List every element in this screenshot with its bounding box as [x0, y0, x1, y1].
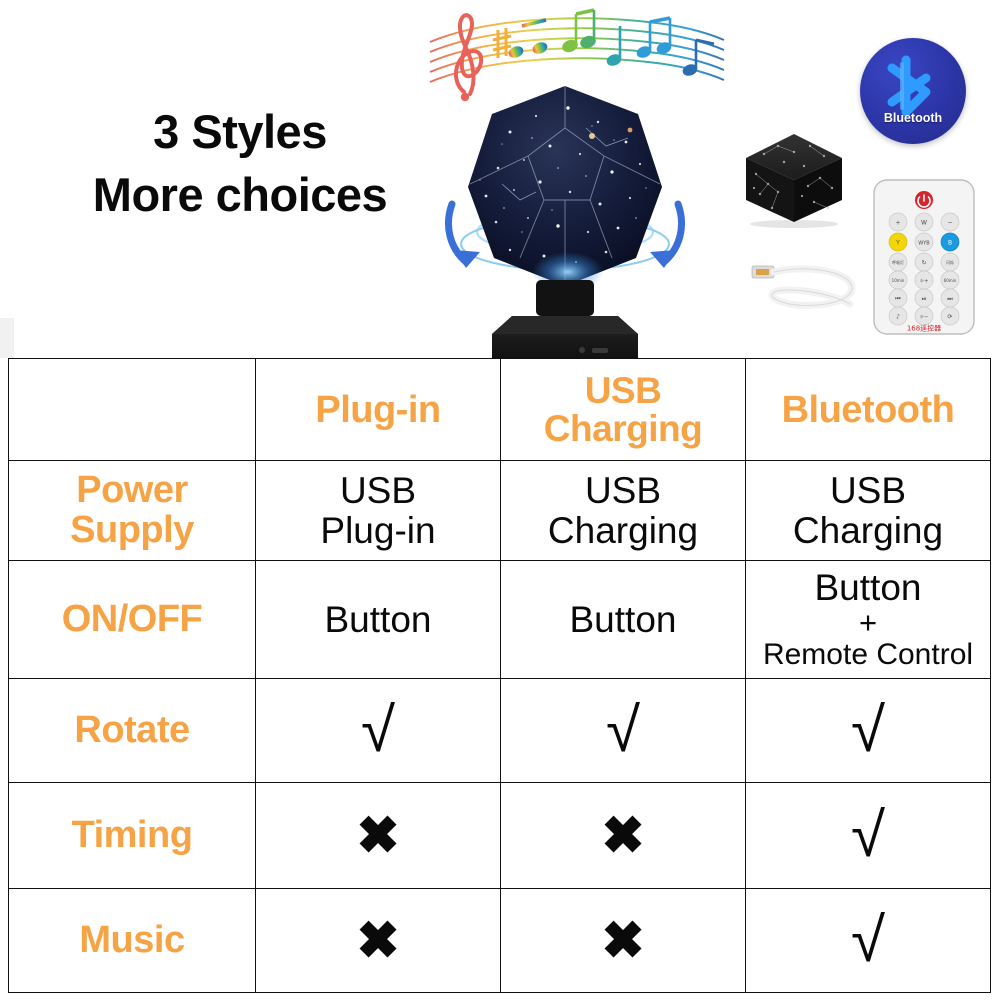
svg-text:+: + — [895, 220, 900, 227]
table-header-row: Plug-in USB Charging Bluetooth — [9, 359, 991, 461]
cell-rotate-usb-charging: √ — [501, 679, 746, 783]
cell-music-plug-in: ✖ — [256, 889, 501, 993]
cell-rotate-plug-in: √ — [256, 679, 501, 783]
constellation-gift-box — [738, 128, 850, 228]
row-label-rotate: Rotate — [9, 679, 256, 783]
svg-text:⏯: ⏯ — [922, 296, 927, 303]
cell-timing-plug-in: ✖ — [256, 783, 501, 889]
svg-text:WYB: WYB — [918, 241, 930, 247]
row-label-on-off: ON/OFF — [9, 561, 256, 679]
svg-text:⏮: ⏮ — [895, 296, 901, 303]
row-label-timing: Timing — [9, 783, 256, 889]
left-gray-band — [0, 318, 14, 358]
cell-timing-bluetooth: √ — [746, 783, 991, 889]
svg-text:☼+: ☼+ — [920, 279, 929, 285]
header-usb-charging: USB Charging — [501, 359, 746, 461]
svg-text:10min: 10min — [892, 278, 905, 283]
header-plug-in: Plug-in — [256, 359, 501, 461]
svg-text:↻: ↻ — [921, 260, 926, 267]
svg-text:W: W — [921, 220, 927, 227]
cell-power-bluetooth: USB Charging — [746, 461, 991, 561]
cell-power-plug-in: USB Plug-in — [256, 461, 501, 561]
svg-text:闪烁: 闪烁 — [946, 259, 954, 265]
cell-music-bluetooth: √ — [746, 889, 991, 993]
header-blank — [9, 359, 256, 461]
row-label-music: Music — [9, 889, 256, 993]
bluetooth-badge: Bluetooth — [860, 38, 966, 144]
headline-line-2: More choices — [40, 167, 440, 222]
svg-text:−: − — [947, 220, 952, 227]
hero-banner: 3 Styles More choices — [0, 0, 1000, 358]
svg-text:B: B — [948, 240, 952, 247]
table-row: Rotate √ √ √ — [9, 679, 991, 783]
svg-text:60min: 60min — [944, 278, 957, 283]
remote-model-label: 168遥控器 — [907, 324, 941, 333]
usb-cable — [748, 248, 866, 318]
comparison-table: Plug-in USB Charging Bluetooth Power Sup… — [8, 358, 991, 993]
header-usb-charging-line-1: USB — [585, 370, 662, 411]
svg-text:Y: Y — [895, 240, 900, 247]
table-row: Power Supply USB Plug-in USB Charging US… — [9, 461, 991, 561]
cell-onoff-bluetooth: Button + Remote Control — [746, 561, 991, 679]
bluetooth-badge-label: Bluetooth — [860, 111, 966, 125]
star-projector-lamp — [440, 72, 690, 364]
cell-onoff-plug-in: Button — [256, 561, 501, 679]
cell-rotate-bluetooth: √ — [746, 679, 991, 783]
header-usb-charging-line-2: Charging — [544, 408, 702, 449]
table-row: Timing ✖ ✖ √ — [9, 783, 991, 889]
cell-onoff-usb-charging: Button — [501, 561, 746, 679]
svg-text:⟳: ⟳ — [947, 314, 952, 321]
bluetooth-icon — [860, 38, 966, 144]
table-row: Music ✖ ✖ √ — [9, 889, 991, 993]
row-label-power-supply: Power Supply — [9, 461, 256, 561]
svg-text:☼−: ☼− — [920, 315, 929, 321]
svg-text:呼吸灯: 呼吸灯 — [892, 259, 904, 265]
table-row: ON/OFF Button Button Button + Remote Con… — [9, 561, 991, 679]
headline-line-1: 3 Styles — [40, 104, 440, 159]
cell-power-usb-charging: USB Charging — [501, 461, 746, 561]
remote-control: + W − Y WYB B 呼吸灯 ↻ 闪烁 10min ☼+ 60min ⏮ … — [872, 178, 976, 336]
header-bluetooth: Bluetooth — [746, 359, 991, 461]
svg-text:⏭: ⏭ — [947, 296, 953, 303]
cell-music-usb-charging: ✖ — [501, 889, 746, 993]
svg-text:♪: ♪ — [896, 314, 900, 321]
page-title: 3 Styles More choices — [40, 104, 440, 223]
cell-timing-usb-charging: ✖ — [501, 783, 746, 889]
